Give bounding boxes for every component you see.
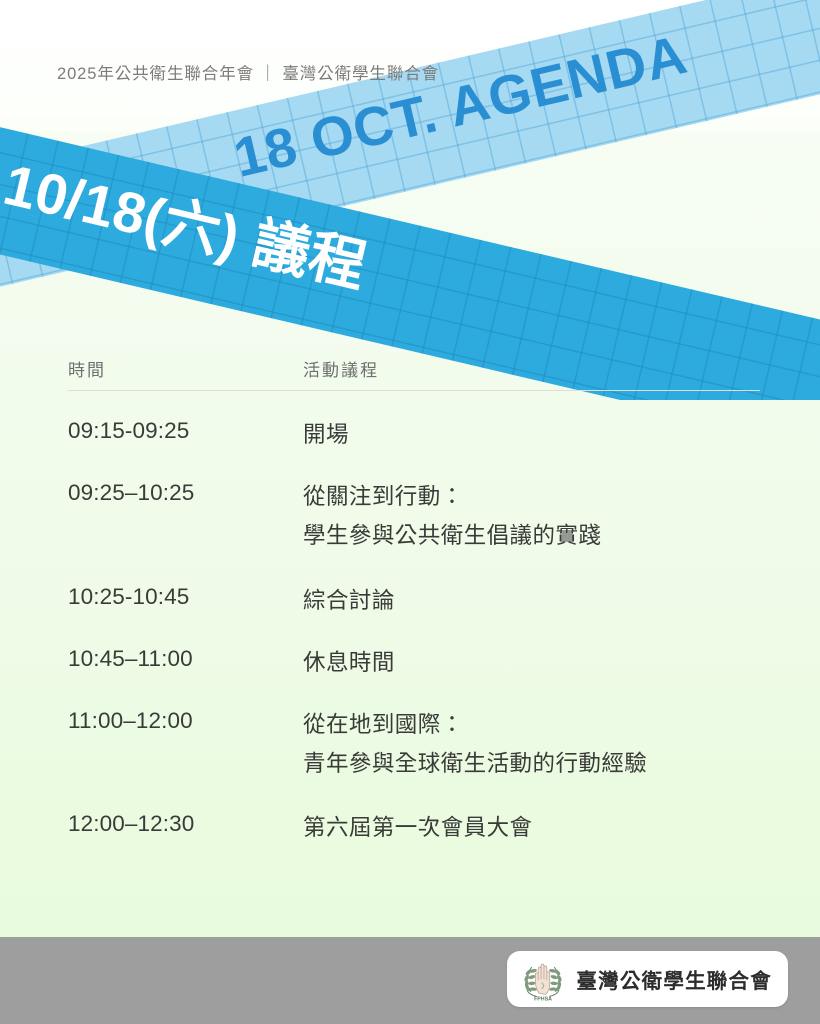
agenda-poster: 2025年公共衛生聯合年會 ｜ 臺灣公衛學生聯合會 18 OCT. AGENDA… (0, 0, 820, 1024)
table-row: 09:25–10:25 從關注到行動： 學生參與公共衛生倡議的實踐 (0, 478, 820, 556)
footer-bar: FPHSA 臺灣公衛學生聯合會 (0, 937, 820, 1024)
row-program: 第六屆第一次會員大會 (303, 809, 533, 848)
fphsa-acronym: FPHSA (534, 997, 552, 1003)
row-time: 12:00–12:30 (68, 809, 303, 839)
row-program-line1: 休息時間 (303, 650, 395, 675)
table-row: 12:00–12:30 第六屆第一次會員大會 (0, 809, 820, 848)
row-program-line1: 綜合討論 (303, 588, 395, 613)
organization-badge: FPHSA 臺灣公衛學生聯合會 (507, 951, 788, 1007)
table-row: 10:45–11:00 休息時間 (0, 644, 820, 683)
agenda-table: 時間 活動議程 09:15-09:25 開場 09:25–10:25 從關注到行… (0, 348, 820, 871)
row-time: 09:15-09:25 (68, 416, 303, 446)
row-program-line2: 青年參與全球衛生活動的行動經驗 (303, 745, 647, 784)
row-time: 10:45–11:00 (68, 644, 303, 674)
table-row: 11:00–12:00 從在地到國際： 青年參與全球衛生活動的行動經驗 (0, 706, 820, 784)
agenda-rows: 09:15-09:25 開場 09:25–10:25 從關注到行動： 學生參與公… (0, 394, 820, 848)
poster-eyebrow-text: 2025年公共衛生聯合年會 ｜ 臺灣公衛學生聯合會 (57, 60, 439, 84)
row-program-line1: 從關注到行動： (303, 484, 464, 509)
row-program: 開場 (303, 416, 349, 455)
row-program-line1: 開場 (303, 422, 349, 447)
row-program: 綜合討論 (303, 582, 395, 621)
row-time: 10:25-10:45 (68, 582, 303, 612)
column-header-time: 時間 (68, 356, 106, 381)
row-time: 11:00–12:00 (68, 706, 303, 736)
table-row: 09:15-09:25 開場 (0, 416, 820, 455)
fphsa-logo-icon: FPHSA (519, 955, 567, 1003)
organization-name-label: 臺灣公衛學生聯合會 (576, 964, 772, 994)
row-program: 從關注到行動： 學生參與公共衛生倡議的實踐 (303, 478, 601, 556)
table-row: 10:25-10:45 綜合討論 (0, 582, 820, 621)
column-header-program: 活動議程 (303, 356, 379, 381)
row-program-line1: 從在地到國際： (303, 712, 464, 737)
header-divider (68, 390, 760, 391)
agenda-table-header: 時間 活動議程 (0, 348, 820, 394)
row-program: 休息時間 (303, 644, 395, 683)
row-program-line2: 學生參與公共衛生倡議的實踐 (303, 517, 601, 556)
row-time: 09:25–10:25 (68, 478, 303, 508)
row-program: 從在地到國際： 青年參與全球衛生活動的行動經驗 (303, 706, 647, 784)
row-program-line1: 第六屆第一次會員大會 (303, 815, 533, 840)
